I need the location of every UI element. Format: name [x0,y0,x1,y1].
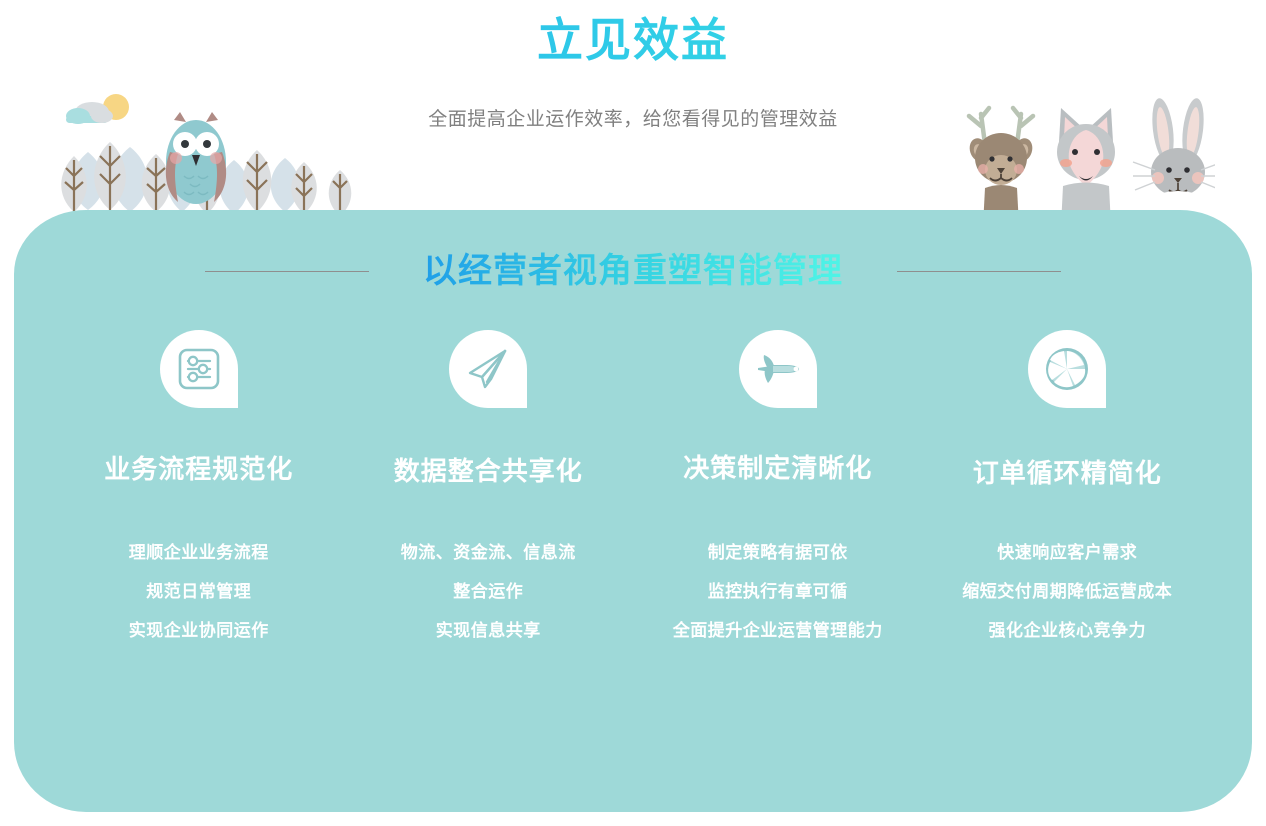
benefit-column-3[interactable]: 决策制定清晰化 制定策略有据可依 监控执行有章可循 全面提升企业运营管理能力 [633,330,923,641]
benefit-column-1[interactable]: 业务流程规范化 理顺企业业务流程 规范日常管理 实现企业协同运作 [54,330,344,641]
rabbit-icon [1133,97,1215,224]
benefit-line: 实现信息共享 [436,621,541,641]
benefit-line: 理顺企业业务流程 [129,543,269,563]
benefit-line: 制定策略有据可依 [708,543,848,563]
camera-aperture-icon [1043,345,1091,393]
benefit-lines-2: 物流、资金流、信息流 整合运作 实现信息共享 [401,543,576,641]
benefit-line: 实现企业协同运作 [129,621,269,641]
benefit-line: 快速响应客户需求 [997,543,1137,563]
sliders-settings-icon-badge [160,330,238,408]
paper-plane-icon [465,346,511,392]
benefit-line: 监控执行有章可循 [708,582,848,602]
heading-rule-left [205,271,369,272]
camera-aperture-icon-badge [1028,330,1106,408]
benefit-title-1: 业务流程规范化 [104,452,293,486]
animals-illustration [945,88,1215,228]
benefit-columns: 业务流程规范化 理顺企业业务流程 规范日常管理 实现企业协同运作 [54,330,1212,641]
paper-plane-icon-badge [449,330,527,408]
forest-illustration [52,90,352,225]
deer-icon [967,108,1036,226]
benefit-lines-1: 理顺企业业务流程 规范日常管理 实现企业协同运作 [129,543,269,641]
space-shuttle-icon-badge [739,330,817,408]
benefit-line: 全面提升企业运营管理能力 [673,621,883,641]
section-heading: 以经营者视角重塑智能管理 [14,248,1252,294]
benefit-column-2[interactable]: 数据整合共享化 物流、资金流、信息流 整合运作 实现信息共享 [344,330,634,641]
benefit-line: 规范日常管理 [146,582,251,602]
heading-rule-right [897,271,1061,272]
benefit-column-4[interactable]: 订单循环精简化 快速响应客户需求 缩短交付周期降低运营成本 强化企业核心竞争力 [923,330,1213,641]
benefit-line: 物流、资金流、信息流 [401,543,576,563]
owl-icon [166,112,226,204]
section-heading-text: 以经营者视角重塑智能管理 [423,248,843,294]
page-title: 立见效益 [0,10,1266,70]
benefit-lines-3: 制定策略有据可依 监控执行有章可循 全面提升企业运营管理能力 [673,543,883,641]
benefit-lines-4: 快速响应客户需求 缩短交付周期降低运营成本 强化企业核心竞争力 [962,543,1172,641]
benefit-title-4: 订单循环精简化 [973,456,1162,490]
benefit-line: 整合运作 [453,582,523,602]
wolf-icon [1057,108,1115,226]
benefit-line: 强化企业核心竞争力 [989,621,1147,641]
benefit-title-2: 数据整合共享化 [394,454,583,488]
benefit-line: 缩短交付周期降低运营成本 [962,582,1172,602]
benefits-panel: 以经营者视角重塑智能管理 业务流程规范化 [14,210,1252,812]
space-shuttle-icon [754,349,802,389]
sliders-settings-icon [176,346,222,392]
benefit-title-3: 决策制定清晰化 [683,451,872,485]
